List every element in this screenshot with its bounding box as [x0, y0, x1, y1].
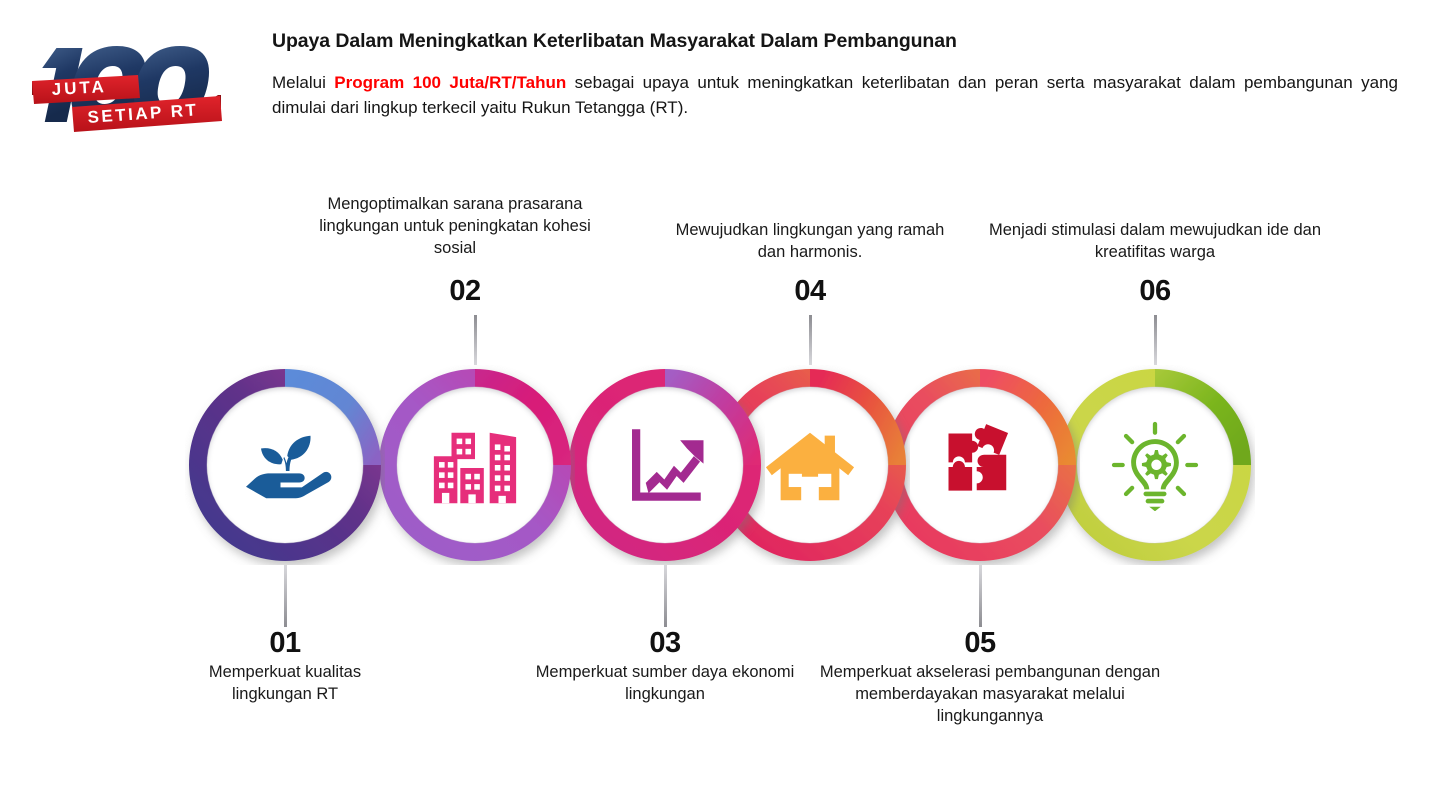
step-caption-02: Mengoptimalkan sarana prasarana lingkung…	[317, 194, 593, 259]
intro-highlight: Program 100 Juta/RT/Tahun	[334, 73, 566, 92]
header-text-block: Upaya Dalam Meningkatkan Keterlibatan Ma…	[272, 30, 1400, 121]
city-buildings-icon	[428, 418, 522, 512]
connector-line-01	[284, 565, 287, 627]
step-icon-container-05	[902, 387, 1058, 543]
intro-paragraph: Melalui Program 100 Juta/RT/Tahun sebaga…	[272, 71, 1398, 120]
lightbulb-gear-icon	[1109, 419, 1201, 511]
step-icon-container-01	[207, 387, 363, 543]
step-icon-container-06	[1077, 387, 1233, 543]
connector-line-06	[1154, 315, 1157, 365]
connector-line-04	[809, 315, 812, 365]
step-caption-05: Memperkuat akselerasi pembangunan dengan…	[800, 662, 1180, 727]
header: JUTA SETIAP RT Upaya Dalam Meningkatkan …	[0, 0, 1432, 175]
connector-line-02	[474, 315, 477, 365]
step-caption-01: Memperkuat kualitas lingkungan RT	[175, 662, 395, 706]
process-diagram: Mengoptimalkan sarana prasarana lingkung…	[0, 175, 1432, 795]
connector-line-03	[664, 565, 667, 627]
step-icon-container-02	[397, 387, 553, 543]
svg-text:JUTA: JUTA	[51, 77, 107, 99]
process-step-01[interactable]	[185, 365, 385, 565]
step-number-01: 01	[225, 627, 345, 660]
step-caption-06: Menjadi stimulasi dalam mewujudkan ide d…	[965, 220, 1345, 264]
house-icon	[763, 418, 857, 512]
puzzle-pieces-icon	[938, 423, 1022, 507]
step-number-06: 06	[1095, 275, 1215, 308]
step-number-02: 02	[405, 275, 525, 308]
process-step-06[interactable]	[1055, 365, 1255, 565]
step-number-05: 05	[920, 627, 1040, 660]
intro-before: Melalui	[272, 73, 334, 92]
connector-line-05	[979, 565, 982, 627]
process-step-02[interactable]	[375, 365, 575, 565]
process-step-03[interactable]	[565, 365, 765, 565]
growth-chart-arrow-icon	[621, 421, 709, 509]
hand-holding-plant-icon	[237, 417, 333, 513]
step-icon-container-03	[587, 387, 743, 543]
page-title: Upaya Dalam Meningkatkan Keterlibatan Ma…	[272, 30, 1400, 53]
process-step-05[interactable]	[880, 365, 1080, 565]
step-number-03: 03	[605, 627, 725, 660]
100-juta-setiap-rt-logo: JUTA SETIAP RT	[18, 22, 268, 147]
step-number-04: 04	[750, 275, 870, 308]
step-caption-04: Mewujudkan lingkungan yang ramah dan har…	[670, 220, 950, 264]
step-caption-03: Memperkuat sumber daya ekonomi lingkunga…	[520, 662, 810, 706]
